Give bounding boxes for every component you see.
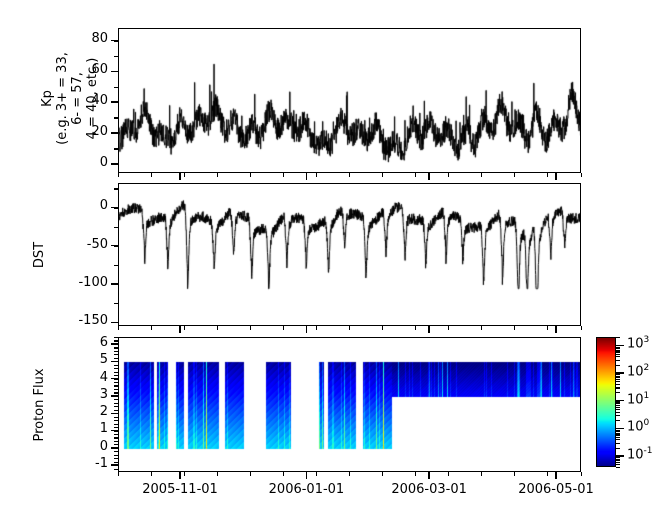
x-minor-tick: [151, 472, 152, 476]
dst-series-canvas: [119, 184, 581, 326]
x-minor-tick: [547, 472, 548, 476]
x-minor-tick: [415, 326, 416, 330]
x-minor-tick: [481, 326, 482, 330]
x-major-tick: [555, 173, 556, 180]
x-minor-tick: [382, 472, 383, 476]
x-minor-tick: [382, 326, 383, 330]
x-minor-tick: [184, 326, 185, 330]
y-major-tick: [111, 378, 118, 379]
x-minor-tick: [283, 472, 284, 476]
y-major-tick: [111, 464, 118, 465]
kp-series-canvas: [119, 29, 581, 173]
x-minor-tick: [415, 472, 416, 476]
colorbar-tick-label: 103: [627, 335, 649, 351]
x-tick-label: 2006-01-01: [251, 482, 361, 497]
colorbar-minor-tick: [616, 381, 620, 382]
colorbar-minor-tick: [616, 460, 620, 461]
y-major-tick: [111, 283, 118, 284]
colorbar-minor-tick: [616, 407, 620, 408]
y-minor-tick: [114, 444, 118, 445]
x-major-tick: [179, 173, 180, 180]
colorbar-minor-tick: [616, 350, 620, 351]
y-minor-tick: [114, 358, 118, 359]
colorbar-minor-tick: [616, 377, 620, 378]
colorbar-minor-tick: [616, 430, 620, 431]
dst-axis-label: DST: [32, 210, 47, 300]
y-minor-tick: [114, 56, 118, 57]
colorbar-minor-tick: [616, 379, 620, 380]
colorbar-minor-tick: [616, 376, 620, 377]
x-minor-tick: [349, 326, 350, 330]
kp-axis-label-line: Kp: [40, 41, 55, 156]
colorbar-minor-tick: [616, 347, 620, 348]
y-minor-tick: [114, 441, 118, 442]
colorbar-minor-tick: [616, 351, 620, 352]
x-minor-tick: [184, 472, 185, 476]
y-minor-tick: [114, 303, 118, 304]
y-major-tick: [111, 40, 118, 41]
x-minor-tick: [316, 472, 317, 476]
x-minor-tick: [118, 472, 119, 476]
y-major-tick: [111, 447, 118, 448]
colorbar-minor-tick: [616, 448, 620, 449]
y-minor-tick: [114, 424, 118, 425]
colorbar-minor-tick: [616, 387, 620, 388]
colorbar-minor-tick: [616, 374, 620, 375]
y-tick-label: -50: [56, 237, 108, 252]
y-minor-tick: [114, 347, 118, 348]
y-major-tick: [111, 163, 118, 164]
y-minor-tick: [114, 451, 118, 452]
colorbar-minor-tick: [616, 412, 620, 413]
y-minor-tick: [114, 385, 118, 386]
x-minor-tick: [448, 173, 449, 177]
y-tick-label: 0: [56, 155, 108, 170]
x-minor-tick: [250, 472, 251, 476]
colorbar-minor-tick: [616, 434, 620, 435]
x-minor-tick: [448, 326, 449, 330]
x-tick-label: 2005-11-01: [125, 482, 235, 497]
y-tick-label: 0: [56, 198, 108, 213]
y-minor-tick: [114, 410, 118, 411]
y-minor-tick: [114, 469, 118, 470]
colorbar-minor-tick: [616, 384, 620, 385]
colorbar-minor-tick: [616, 365, 620, 366]
kp-axis-label-line: (e.g. 3+ = 33,: [55, 41, 70, 156]
x-minor-tick: [547, 173, 548, 177]
y-minor-tick: [114, 399, 118, 400]
colorbar-minor-tick: [616, 415, 620, 416]
x-minor-tick: [349, 472, 350, 476]
y-tick-label: 5: [56, 352, 108, 367]
y-tick-label: 6: [56, 335, 108, 350]
y-minor-tick: [114, 455, 118, 456]
x-major-tick: [555, 326, 556, 333]
x-minor-tick: [481, 173, 482, 177]
y-minor-tick: [114, 382, 118, 383]
y-minor-tick: [114, 389, 118, 390]
x-major-tick: [306, 173, 307, 180]
y-minor-tick: [114, 392, 118, 393]
kp-plot-panel: [118, 28, 581, 173]
x-major-tick: [306, 326, 307, 333]
y-minor-tick: [114, 265, 118, 266]
y-minor-tick: [114, 351, 118, 352]
x-tick-label: 2006-03-01: [374, 482, 484, 497]
y-major-tick: [111, 207, 118, 208]
x-minor-tick: [217, 472, 218, 476]
x-minor-tick: [382, 173, 383, 177]
x-minor-tick: [118, 173, 119, 177]
y-major-tick: [111, 343, 118, 344]
kp-axis-label-line: 6- = 57,: [70, 41, 85, 156]
x-minor-tick: [283, 326, 284, 330]
y-tick-label: -100: [56, 275, 108, 290]
y-major-tick: [111, 101, 118, 102]
y-minor-tick: [114, 403, 118, 404]
x-minor-tick: [514, 173, 515, 177]
x-minor-tick: [481, 472, 482, 476]
colorbar-minor-tick: [616, 457, 620, 458]
y-tick-label: 0: [56, 439, 108, 454]
x-minor-tick: [415, 173, 416, 177]
x-minor-tick: [547, 326, 548, 330]
y-minor-tick: [114, 372, 118, 373]
y-major-tick: [111, 71, 118, 72]
y-minor-tick: [114, 437, 118, 438]
y-major-tick: [111, 395, 118, 396]
colorbar-minor-tick: [616, 437, 620, 438]
x-minor-tick: [250, 173, 251, 177]
proton-flux-heatmap-canvas: [119, 338, 581, 472]
colorbar-tick-label: 100: [627, 418, 649, 434]
y-minor-tick: [114, 420, 118, 421]
colorbar-minor-tick: [616, 337, 620, 338]
colorbar-minor-tick: [616, 409, 620, 410]
y-minor-tick: [114, 117, 118, 118]
colorbar-tick-label: 101: [627, 391, 649, 407]
x-minor-tick: [151, 173, 152, 177]
y-tick-label: -150: [56, 313, 108, 328]
x-minor-tick: [283, 173, 284, 177]
y-major-tick: [111, 413, 118, 414]
y-minor-tick: [114, 375, 118, 376]
y-minor-tick: [114, 188, 118, 189]
x-minor-tick: [514, 326, 515, 330]
x-minor-tick: [316, 326, 317, 330]
colorbar-minor-tick: [616, 467, 620, 468]
x-tick-label: 2006-05-01: [501, 482, 611, 497]
colorbar-minor-tick: [616, 392, 620, 393]
x-minor-tick: [448, 472, 449, 476]
x-minor-tick: [581, 472, 582, 476]
y-minor-tick: [114, 354, 118, 355]
x-minor-tick: [151, 326, 152, 330]
colorbar-tick-label: 10-1: [627, 446, 653, 462]
y-minor-tick: [114, 337, 118, 338]
colorbar-minor-tick: [616, 439, 620, 440]
colorbar-minor-tick: [616, 431, 620, 432]
colorbar-minor-tick: [616, 462, 620, 463]
x-major-tick: [179, 472, 180, 479]
colorbar-major-tick: [616, 372, 624, 373]
proton-flux-axis-label: Proton Flux: [32, 355, 47, 455]
y-minor-tick: [114, 427, 118, 428]
x-minor-tick: [581, 326, 582, 330]
colorbar-minor-tick: [616, 459, 620, 460]
colorbar-gradient: [597, 338, 616, 467]
colorbar-minor-tick: [616, 443, 620, 444]
colorbar-minor-tick: [616, 348, 620, 349]
y-minor-tick: [114, 227, 118, 228]
x-minor-tick: [581, 173, 582, 177]
colorbar-minor-tick: [616, 356, 620, 357]
proton-flux-plot-panel: [118, 337, 581, 472]
x-major-tick: [179, 326, 180, 333]
colorbar: [596, 337, 616, 467]
y-tick-label: 1: [56, 421, 108, 436]
colorbar-major-tick: [616, 345, 624, 346]
x-major-tick: [428, 326, 429, 333]
y-minor-tick: [114, 340, 118, 341]
figure-canvas: 020406080 Kp(e.g. 3+ = 33,6- = 57,4 = 40…: [0, 0, 665, 523]
colorbar-major-tick: [616, 400, 624, 401]
y-major-tick: [111, 322, 118, 323]
x-minor-tick: [250, 326, 251, 330]
y-minor-tick: [114, 87, 118, 88]
x-minor-tick: [349, 173, 350, 177]
y-tick-label: -1: [56, 456, 108, 471]
y-tick-label: 2: [56, 404, 108, 419]
y-tick-label: 4: [56, 370, 108, 385]
colorbar-minor-tick: [616, 360, 620, 361]
colorbar-minor-tick: [616, 354, 620, 355]
colorbar-major-tick: [616, 455, 624, 456]
y-minor-tick: [114, 458, 118, 459]
x-minor-tick: [184, 173, 185, 177]
x-minor-tick: [217, 326, 218, 330]
dst-plot-panel: [118, 183, 581, 326]
y-minor-tick: [114, 434, 118, 435]
x-major-tick: [428, 173, 429, 180]
x-major-tick: [428, 472, 429, 479]
y-minor-tick: [114, 417, 118, 418]
x-minor-tick: [514, 472, 515, 476]
y-major-tick: [111, 430, 118, 431]
colorbar-minor-tick: [616, 433, 620, 434]
x-major-tick: [555, 472, 556, 479]
colorbar-tick-label: 102: [627, 363, 649, 379]
colorbar-minor-tick: [616, 403, 620, 404]
x-minor-tick: [217, 173, 218, 177]
colorbar-minor-tick: [616, 405, 620, 406]
y-minor-tick: [114, 148, 118, 149]
colorbar-minor-tick: [616, 402, 620, 403]
y-minor-tick: [114, 462, 118, 463]
x-minor-tick: [118, 326, 119, 330]
y-tick-label: 3: [56, 387, 108, 402]
y-major-tick: [111, 361, 118, 362]
colorbar-minor-tick: [616, 464, 620, 465]
y-major-tick: [111, 245, 118, 246]
x-minor-tick: [316, 173, 317, 177]
y-minor-tick: [114, 365, 118, 366]
colorbar-minor-tick: [616, 420, 620, 421]
colorbar-major-tick: [616, 428, 624, 429]
y-minor-tick: [114, 406, 118, 407]
y-minor-tick: [114, 368, 118, 369]
y-major-tick: [111, 132, 118, 133]
x-major-tick: [306, 472, 307, 479]
kp-axis-label-line: 4 = 40, etc.): [85, 41, 100, 156]
